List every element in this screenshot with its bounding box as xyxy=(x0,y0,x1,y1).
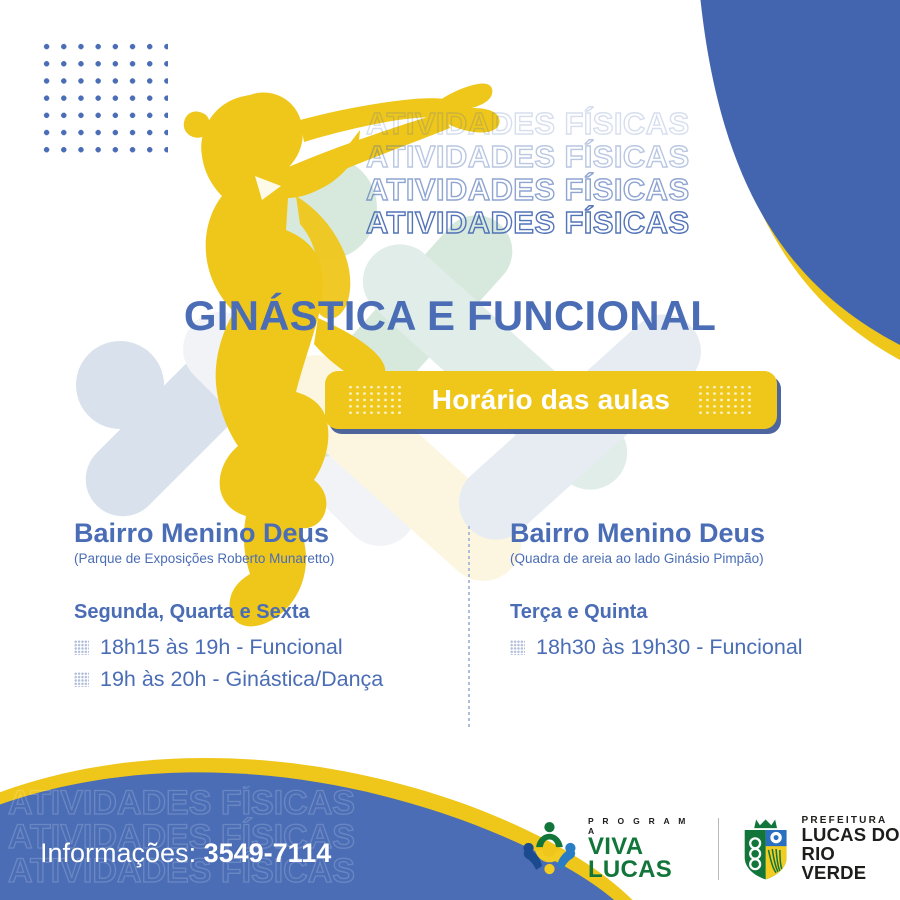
venue-name: Bairro Menino Deus xyxy=(510,518,880,548)
time-entry: 19h às 20h - Ginástica/Dança xyxy=(100,666,383,693)
list-item: 19h às 20h - Ginástica/Dança xyxy=(74,666,444,693)
viva-lucas-text: P R O G R A M A VIVA LUCAS xyxy=(588,816,698,881)
outline-headline-2: ATIVIDADES FÍSICAS xyxy=(366,141,766,173)
schedule-column-left: Bairro Menino Deus (Parque de Exposições… xyxy=(74,518,444,698)
page-title: GINÁSTICA E FUNCIONAL xyxy=(0,292,900,340)
venue-name: Bairro Menino Deus xyxy=(74,518,444,548)
prefeitura-line-2: RIO VERDE xyxy=(802,845,900,883)
dot-pattern-right-icon xyxy=(697,384,755,416)
logo-divider xyxy=(718,818,720,880)
list-item: 18h30 às 19h30 - Funcional xyxy=(510,634,880,661)
schedule-time-list: 18h30 às 19h30 - Funcional xyxy=(510,634,880,661)
poster-canvas: ATIVIDADES FÍSICAS ATIVIDADES FÍSICAS AT… xyxy=(0,0,900,900)
schedule-days: Terça e Quinta xyxy=(510,601,880,624)
outline-headline-1: ATIVIDADES FÍSICAS xyxy=(366,108,766,140)
schedule-time-list: 18h15 às 19h - Funcional 19h às 20h - Gi… xyxy=(74,634,444,693)
contact-phone[interactable]: 3549-7114 xyxy=(204,838,332,868)
time-entry: 18h30 às 19h30 - Funcional xyxy=(536,634,803,661)
schedule-section: Bairro Menino Deus (Parque de Exposições… xyxy=(0,518,900,733)
contact-info: Informações: 3549-7114 xyxy=(40,838,331,869)
dot-grid-decoration xyxy=(38,38,168,156)
contact-label: Informações: xyxy=(40,838,196,868)
outline-headline-4: ATIVIDADES FÍSICAS xyxy=(366,207,766,239)
viva-lucas-logo: P R O G R A M A VIVA LUCAS xyxy=(520,816,698,881)
venue-address: (Parque de Exposições Roberto Munaretto) xyxy=(74,551,444,567)
footer-logos: P R O G R A M A VIVA LUCAS xyxy=(520,812,900,886)
outline-headline-3: ATIVIDADES FÍSICAS xyxy=(366,174,766,206)
bullet-dots-icon xyxy=(510,640,525,655)
schedule-column-right: Bairro Menino Deus (Quadra de areia ao l… xyxy=(510,518,880,666)
schedule-button[interactable]: Horário das aulas xyxy=(325,371,777,429)
list-item: 18h15 às 19h - Funcional xyxy=(74,634,444,661)
schedule-days: Segunda, Quarta e Sexta xyxy=(74,601,444,624)
venue-address: (Quadra de areia ao lado Ginásio Pimpão) xyxy=(510,551,880,567)
dot-pattern-left-icon xyxy=(347,384,405,416)
bullet-dots-icon xyxy=(74,672,89,687)
prefeitura-logo: PREFEITURA LUCAS DO RIO VERDE xyxy=(739,815,900,883)
crest-shield-icon xyxy=(739,816,792,882)
prefeitura-text: PREFEITURA LUCAS DO RIO VERDE xyxy=(802,815,900,883)
viva-line-2: LUCAS xyxy=(588,859,698,882)
schedule-button-label: Horário das aulas xyxy=(432,384,670,416)
outline-headline-stack: ATIVIDADES FÍSICAS ATIVIDADES FÍSICAS AT… xyxy=(366,108,766,239)
bullet-dots-icon xyxy=(74,640,89,655)
column-divider xyxy=(468,526,470,728)
watermark-line-1: ATIVIDADES FÍSICAS xyxy=(8,786,478,820)
four-people-star-icon xyxy=(520,819,579,879)
schedule-button-wrap: Horário das aulas xyxy=(325,371,781,434)
time-entry: 18h15 às 19h - Funcional xyxy=(100,634,343,661)
